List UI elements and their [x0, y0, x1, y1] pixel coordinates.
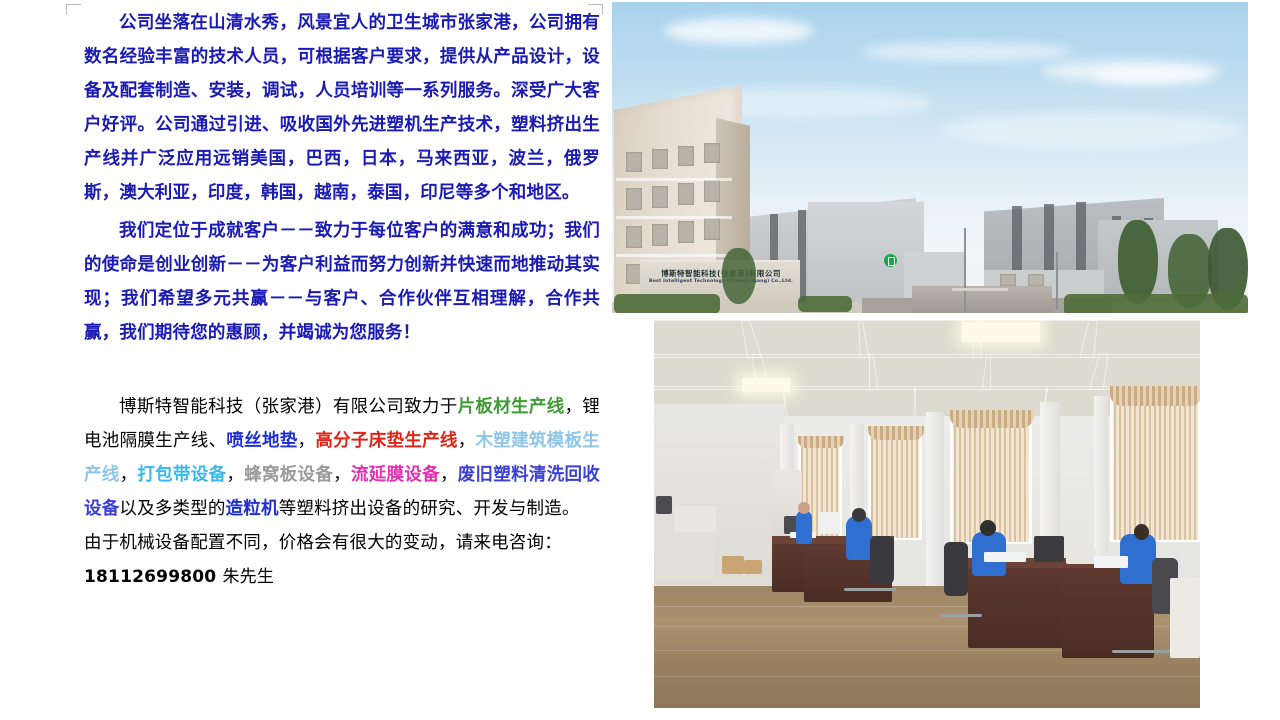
company-logo-icon: [884, 254, 897, 267]
seg-cast-film-equipment: 流延膜设备: [351, 465, 440, 485]
monitor: [656, 496, 672, 514]
cloud-icon: [664, 18, 814, 44]
paragraph-price-notice: 由于机械设备配置不同，价格会有很大的变动，请来电咨询：: [84, 526, 600, 560]
contact-person-name: 朱先生: [222, 567, 274, 587]
printer: [1066, 548, 1096, 564]
seg-honeycomb-equipment: 蜂窝板设备: [244, 465, 333, 485]
hedge: [1064, 294, 1248, 313]
seg-comma-6: ，: [440, 465, 458, 485]
ceiling-tile: [741, 320, 870, 358]
facade-ledge: [616, 254, 732, 257]
window: [704, 180, 720, 202]
seg-pelletizer: 造粒机: [226, 499, 279, 519]
window: [678, 221, 694, 243]
light-pole: [1056, 252, 1058, 310]
entrance-sign-chinese-text: 博斯特智能科技(张家港)有限公司: [648, 268, 794, 279]
seg-sheet-board-line: 片板材生产线: [458, 397, 565, 417]
window-blind: [1114, 400, 1198, 540]
office-chair: [870, 536, 894, 584]
person-head: [980, 520, 996, 536]
ceiling-light: [742, 378, 790, 392]
person-seated: [846, 516, 872, 560]
window-valance: [868, 426, 924, 440]
ceiling-tile: [1079, 320, 1200, 358]
paragraph-company-location: 公司坐落在山清水秀，风景宜人的卫生城市张家港，公司拥有数名经验丰富的技术人员，可…: [84, 6, 600, 210]
seg-comma-1: ，: [298, 431, 316, 451]
entrance-sign-english-text: Best Intelligent Technology (Zhangjiagan…: [648, 279, 794, 284]
window: [1000, 274, 1016, 286]
facade-ledge: [616, 178, 732, 181]
page-root: 公司坐落在山清水秀，风景宜人的卫生城市张家港，公司拥有数名经验丰富的技术人员，可…: [0, 0, 1280, 720]
window: [704, 143, 720, 163]
wall-pillar: [926, 412, 944, 598]
side-cabinet: [656, 532, 714, 580]
window-blind: [871, 438, 919, 538]
seg-and-various: 以及多类型的: [119, 499, 225, 519]
seg-comma-2: ，: [458, 431, 476, 451]
cloud-icon: [942, 112, 1242, 148]
company-description-text-column: 公司坐落在山清水秀，风景宜人的卫生城市张家港，公司拥有数名经验丰富的技术人员，可…: [84, 6, 600, 720]
person-head: [798, 502, 810, 514]
seg-strapping-equipment: 打包带设备: [137, 465, 226, 485]
tree: [1118, 220, 1158, 304]
paper-stack: [984, 552, 1026, 562]
person-head: [1134, 524, 1149, 540]
tree: [722, 248, 756, 304]
seg-intro: 博斯特智能科技（张家港）有限公司致力于: [119, 397, 458, 417]
window: [652, 186, 668, 208]
seg-polymer-mattress: 高分子床垫生产线: [315, 431, 457, 451]
monitor: [818, 512, 840, 534]
seg-comma-5: ，: [333, 465, 351, 485]
paper-stack: [1094, 556, 1128, 568]
window: [626, 188, 642, 210]
window: [704, 218, 720, 240]
chair-base: [1112, 650, 1170, 653]
hedge: [614, 294, 720, 313]
window: [678, 146, 694, 166]
paragraph-product-lines: 博斯特智能科技（张家港）有限公司致力于片板材生产线，锂电池隔膜生产线、喷丝地垫，…: [84, 390, 600, 526]
ceiling-tile: [1089, 354, 1200, 390]
factory-exterior-photo: 博斯特智能科技(张家港)有限公司 Best Intelligent Techno…: [612, 2, 1248, 313]
window: [652, 149, 668, 169]
printer: [674, 506, 716, 532]
cardboard-box: [722, 556, 744, 574]
seg-comma-3: ，: [120, 465, 138, 485]
person-head: [852, 508, 866, 522]
chair-base: [940, 614, 982, 617]
phone-number[interactable]: 18112699800: [84, 567, 216, 587]
window: [678, 183, 694, 205]
cloud-icon: [1092, 68, 1212, 84]
window: [626, 226, 642, 248]
office-interior-photo: [654, 320, 1200, 708]
window: [652, 224, 668, 246]
table-corner-mark-top-left: [66, 4, 81, 15]
ceiling-light: [962, 322, 1040, 342]
window: [626, 152, 642, 172]
seg-comma-4: ，: [226, 465, 244, 485]
cloud-icon: [862, 42, 1072, 62]
facade-ledge: [616, 216, 732, 219]
contact-line: 18112699800 朱先生: [84, 560, 600, 594]
cabinet: [1170, 578, 1200, 658]
seg-outro: 等塑料挤出设备的研究、开发与制造。: [279, 499, 580, 519]
cardboard-box: [744, 560, 762, 574]
ceiling-tile: [869, 354, 991, 390]
paragraph-company-mission: 我们定位于成就客户－－致力于每位客户的满意和成功；我们的使命是创业创新－－为客户…: [84, 214, 600, 350]
hedge: [798, 296, 852, 312]
monitor: [1034, 536, 1064, 562]
window: [1028, 274, 1044, 286]
window-valance: [798, 436, 844, 448]
seg-spunbond-mat: 喷丝地垫: [226, 431, 297, 451]
floor-plank-line: [654, 676, 1200, 677]
window-valance: [950, 410, 1034, 428]
chair-base: [844, 588, 896, 591]
person-seated: [796, 510, 812, 544]
light-pole: [964, 228, 966, 312]
desk: [968, 564, 1066, 648]
gate-barrier: [952, 288, 1008, 291]
window-valance: [1110, 386, 1200, 406]
office-chair: [944, 542, 968, 596]
